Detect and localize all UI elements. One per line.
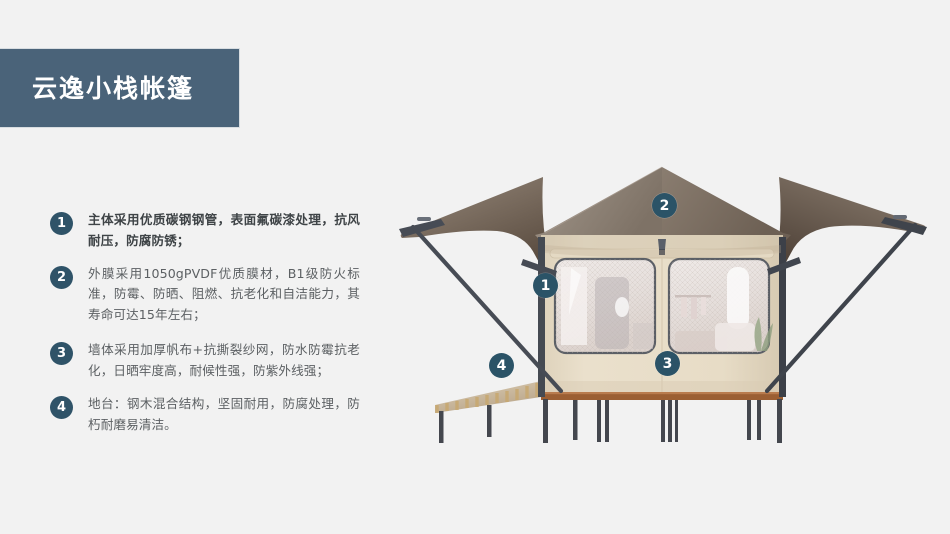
- feature-text-1: 主体采用优质碳钢钢管，表面氟碳漆处理，抗风耐压，防腐防锈；: [88, 210, 360, 252]
- feature-badge-4: 4: [50, 396, 73, 419]
- feature-text-4: 地台：钢木混合结构，坚固耐用，防腐处理，防朽耐磨易清洁。: [88, 394, 360, 436]
- feature-text-3: 墙体采用加厚帆布+抗撕裂纱网，防水防霉抗老化，日晒牢度高，耐候性强，防紫外线强；: [88, 340, 360, 382]
- slide-root: 云逸小栈帐篷 1 主体采用优质碳钢钢管，表面氟碳漆处理，抗风耐压，防腐防锈； 2…: [0, 0, 950, 534]
- feature-badge-1: 1: [50, 212, 73, 235]
- roof-right-panel: [662, 167, 791, 241]
- window-right: [669, 259, 773, 353]
- page-title: 云逸小栈帐篷: [0, 76, 194, 101]
- tent-illustration: 1 2 3 4: [375, 155, 950, 445]
- callout-badge-2: 2: [652, 193, 677, 218]
- list-item: 1 主体采用优质碳钢钢管，表面氟碳漆处理，抗风耐压，防腐防锈；: [50, 210, 360, 252]
- deck-legs: [439, 399, 782, 443]
- callout-badge-3: 3: [655, 351, 680, 376]
- list-item: 4 地台：钢木混合结构，坚固耐用，防腐处理，防朽耐磨易清洁。: [50, 394, 360, 436]
- callout-badge-4: 4: [489, 353, 514, 378]
- feature-list: 1 主体采用优质碳钢钢管，表面氟碳漆处理，抗风耐压，防腐防锈； 2 外膜采用10…: [50, 210, 360, 448]
- list-item: 3 墙体采用加厚帆布+抗撕裂纱网，防水防霉抗老化，日晒牢度高，耐候性强，防紫外线…: [50, 340, 360, 382]
- feature-badge-2: 2: [50, 266, 73, 289]
- ridge-cap: [658, 239, 666, 249]
- deck-edge-highlight: [541, 392, 783, 394]
- list-item: 2 外膜采用1050gPVDF优质膜材，B1级防火标准，防霉、防晒、阻燃、抗老化…: [50, 264, 360, 326]
- feature-badge-3: 3: [50, 342, 73, 365]
- feature-text-2: 外膜采用1050gPVDF优质膜材，B1级防火标准，防霉、防晒、阻燃、抗老化和自…: [88, 264, 360, 326]
- title-banner: 云逸小栈帐篷: [0, 48, 240, 128]
- window-left: [555, 259, 655, 353]
- callout-badge-1: 1: [533, 273, 558, 298]
